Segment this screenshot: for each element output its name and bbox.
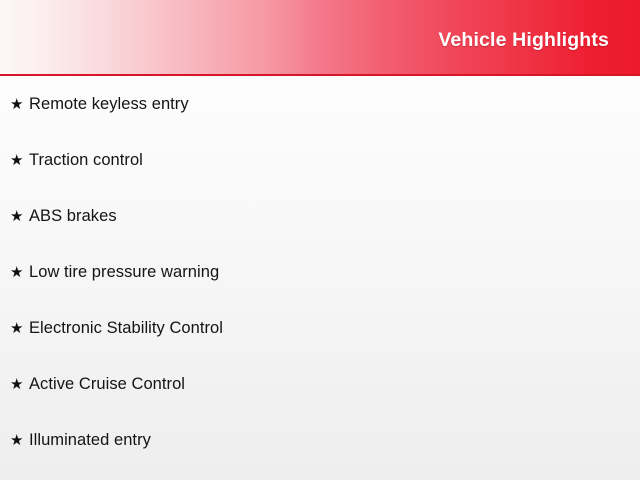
star-icon: ★: [10, 357, 29, 413]
highlight-label: Active Cruise Control: [29, 356, 185, 412]
list-item: ★ABS brakes: [0, 188, 640, 244]
page-title: Vehicle Highlights: [438, 29, 609, 52]
list-item: ★Low tire pressure warning: [0, 244, 640, 300]
star-icon: ★: [10, 301, 29, 357]
list-item: ★Electronic Stability Control: [0, 300, 640, 356]
highlight-label: Remote keyless entry: [29, 76, 189, 132]
highlight-label: Illuminated entry: [29, 412, 151, 468]
star-icon: ★: [10, 189, 29, 245]
star-icon: ★: [10, 245, 29, 301]
list-item: ★Remote keyless entry: [0, 76, 640, 132]
list-item: ★Traction control: [0, 132, 640, 188]
highlight-label: Traction control: [29, 132, 143, 188]
vehicle-highlights-page: Vehicle Highlights ★Remote keyless entry…: [0, 0, 640, 480]
star-icon: ★: [10, 133, 29, 189]
highlight-label: Electronic Stability Control: [29, 300, 223, 356]
highlight-label: Low tire pressure warning: [29, 244, 219, 300]
star-icon: ★: [10, 77, 29, 133]
star-icon: ★: [10, 413, 29, 469]
highlight-label: ABS brakes: [29, 188, 117, 244]
header-banner: Vehicle Highlights: [0, 0, 640, 76]
list-item: ★Illuminated entry: [0, 412, 640, 468]
vehicle-highlights-list: ★Remote keyless entry ★Traction control …: [0, 76, 640, 468]
list-item: ★Active Cruise Control: [0, 356, 640, 412]
